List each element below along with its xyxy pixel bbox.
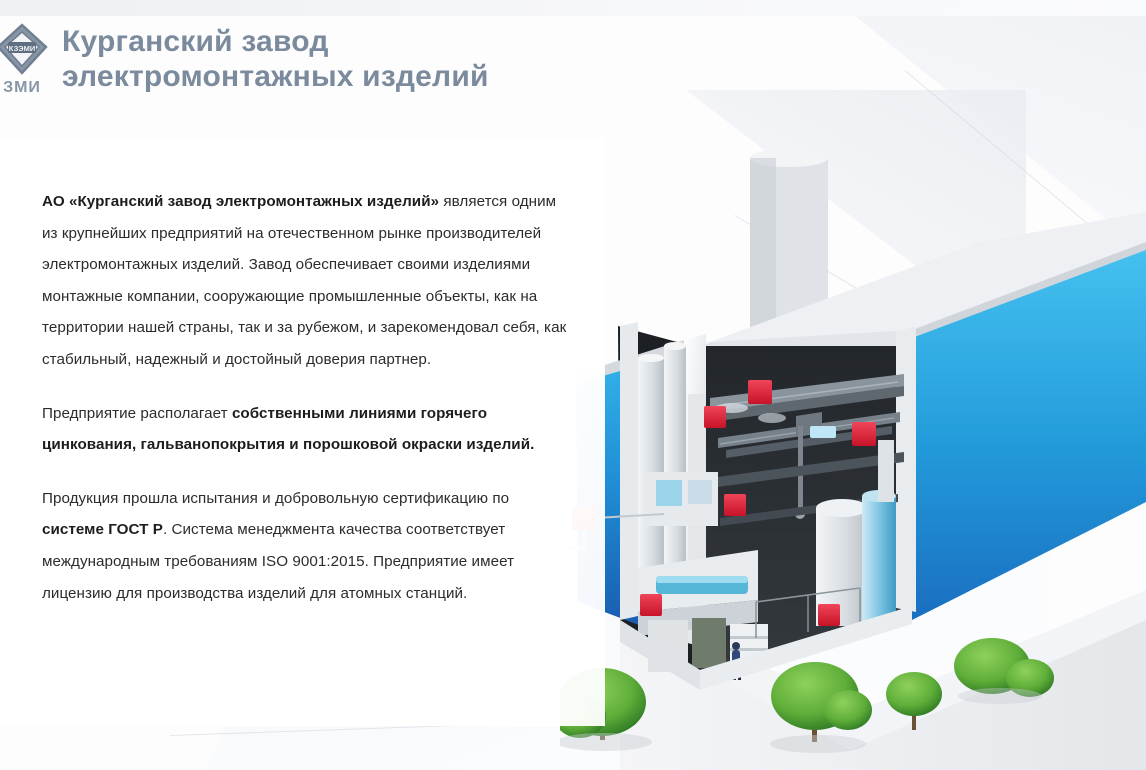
paragraph-certification: Продукция прошла испытания и добровольну…: [42, 483, 571, 609]
isometric-factory-cutaway-illustration: [560, 150, 1146, 770]
emphasis-run: АО «Курганский завод электромонтажных из…: [42, 193, 443, 210]
emphasis-run: системе ГОСТ Р: [42, 521, 163, 538]
kzemi-diamond-emblem-icon: КЗЭМИ ЗМИ: [0, 21, 52, 99]
svg-text:КЗЭМИ: КЗЭМИ: [9, 44, 36, 53]
paragraph-capabilities: Предприятие располагает собственными лин…: [42, 398, 571, 461]
text-run: является одним из крупнейших предприятий…: [42, 193, 566, 368]
text-run: Предприятие располагает: [42, 405, 232, 422]
svg-text:ЗМИ: ЗМИ: [3, 79, 41, 96]
text-run: Продукция прошла испытания и добровольну…: [42, 490, 509, 507]
paragraph-intro: АО «Курганский завод электромонтажных из…: [42, 186, 571, 376]
slide-root: АО «Курганский завод электромонтажных из…: [0, 0, 1146, 770]
page-title: Курганский завод электромонтажных издели…: [62, 25, 489, 95]
company-description-card: АО «Курганский завод электромонтажных из…: [0, 138, 605, 726]
slide-header: КЗЭМИ ЗМИ Курганский завод электромонтаж…: [0, 0, 1146, 120]
